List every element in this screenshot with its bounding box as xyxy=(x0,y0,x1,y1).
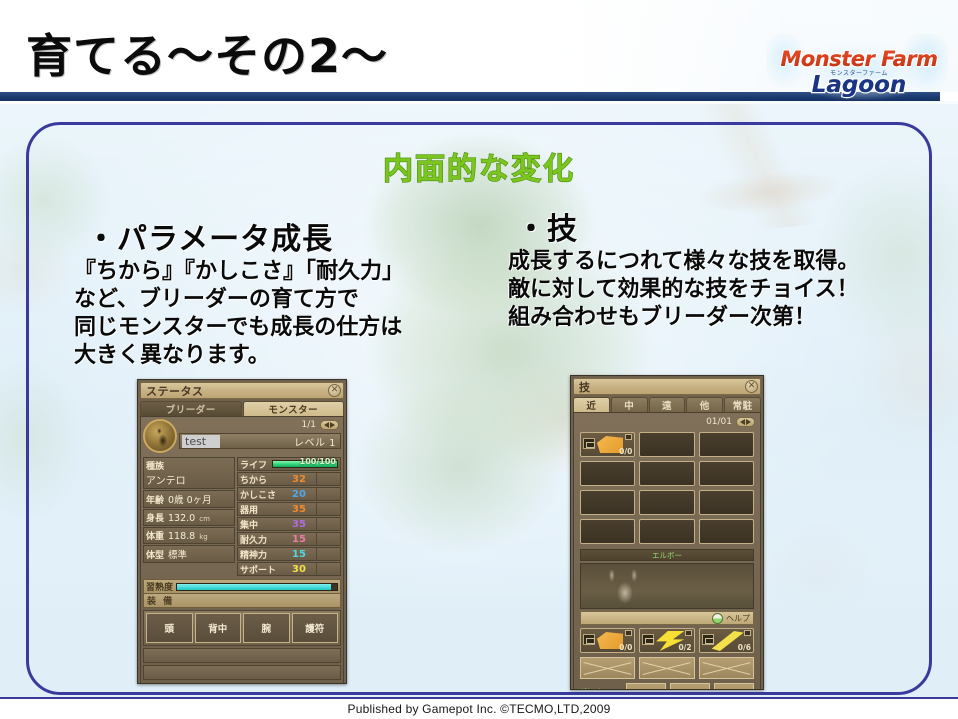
tab-mid-range[interactable]: 中 xyxy=(611,397,648,412)
tab-passive[interactable]: 常駐 xyxy=(724,397,761,412)
help-label: ヘルプ xyxy=(314,684,338,685)
stat-label: 集中 xyxy=(238,518,282,531)
stat-row-endurance: 耐久力 15 xyxy=(237,532,341,546)
status-stats-column: ライフ 100/100 ちから 32 かしこさ 20 xyxy=(237,457,341,577)
stat-spacer xyxy=(316,518,340,530)
stat-row-intelligence: かしこさ 20 xyxy=(237,487,341,501)
skill-cost: 0/0 xyxy=(619,643,632,652)
skill-slot[interactable] xyxy=(580,519,635,544)
antelope-icon xyxy=(153,427,171,449)
skill-window-tabs: 近 中 遠 他 常駐 xyxy=(573,397,761,412)
monster-name-field[interactable]: test xyxy=(182,435,220,448)
stat-label: 精神力 xyxy=(238,548,282,561)
close-icon[interactable]: ✕ xyxy=(328,384,341,397)
skill-slot[interactable] xyxy=(699,432,754,457)
status-header-row: 1/1 test レベル 1 xyxy=(143,419,341,455)
stat-row-dexterity: 器用 35 xyxy=(237,502,341,516)
standby-label: 常駐 xyxy=(580,686,622,690)
monster-level: レベル 1 xyxy=(294,434,340,449)
status-window-title: ステータス xyxy=(141,383,204,399)
bullet-heading-skills: ・技 xyxy=(508,204,859,248)
stat-row-focus: 集中 35 xyxy=(237,517,341,531)
info-field-weight: 体重 118.8 kg xyxy=(143,527,235,544)
section-heading: 内面的な変化 xyxy=(0,144,958,188)
skill-corner-icon xyxy=(625,434,632,440)
info-value: 118.8 xyxy=(168,531,195,542)
empty-skill-slot[interactable] xyxy=(699,657,754,679)
proficiency-row: 習熟度 xyxy=(143,579,341,594)
stat-spacer xyxy=(316,563,340,575)
body-line: 『ちから』『かしこさ』「耐久力」 xyxy=(74,258,404,286)
skill-corner-icon xyxy=(625,630,632,636)
skill-slot[interactable] xyxy=(639,490,694,515)
status-help-row[interactable]: ヘルプ xyxy=(143,682,341,684)
info-field-body-type: 体型 標準 xyxy=(143,545,235,563)
monster-preview-icon xyxy=(603,570,643,608)
empty-skill-slot[interactable] xyxy=(580,657,635,679)
skill-slot[interactable]: 0/0 xyxy=(580,432,635,457)
equipment-section-header: 装 備 xyxy=(143,594,341,608)
skill-slot[interactable] xyxy=(699,490,754,515)
body-line: 同じモンスターでも成長の仕方は xyxy=(74,314,404,342)
text-block-parameters: ・パラメータ成長 『ちから』『かしこさ』「耐久力」 など、ブリーダーの育て方で … xyxy=(74,214,404,371)
skill-slot[interactable] xyxy=(580,490,635,515)
chevron-right-icon[interactable] xyxy=(746,419,751,425)
body-line: など、ブリーダーの育て方で xyxy=(74,286,404,314)
skill-window-body: 01/01 0/0 xyxy=(573,412,761,690)
info-unit: kg xyxy=(199,533,208,541)
help-icon[interactable] xyxy=(300,684,311,685)
info-value: アンテロ xyxy=(146,472,232,487)
proficiency-label: 習熟度 xyxy=(146,580,173,593)
info-label: 身長 xyxy=(146,511,164,524)
monster-portrait-avatar xyxy=(143,419,177,453)
info-field-species: 種族 アンテロ xyxy=(143,457,235,489)
skill-slot[interactable] xyxy=(699,461,754,486)
stat-value: 35 xyxy=(282,519,316,530)
stat-row-life: ライフ 100/100 xyxy=(237,457,341,471)
status-window-body: 1/1 test レベル 1 種族 xyxy=(140,416,344,684)
stat-spacer xyxy=(316,503,340,515)
skill-pager: 01/01 xyxy=(576,415,758,428)
page-title: 育てる〜その2〜 xyxy=(26,20,388,86)
skill-rank-icon xyxy=(702,634,714,645)
copyright-text: Published by Gamepot Inc. ©TECMO,LTD,200… xyxy=(348,702,611,716)
skill-rank-icon xyxy=(642,634,654,645)
chevron-left-icon[interactable] xyxy=(324,422,329,428)
tab-close-range[interactable]: 近 xyxy=(573,397,610,412)
tab-breeder[interactable]: ブリーダー xyxy=(140,401,242,416)
help-label: ヘルプ xyxy=(726,613,750,624)
stat-value: 30 xyxy=(282,564,316,575)
logo-lagoon-text: Lagoon xyxy=(774,72,944,98)
info-label: 体重 xyxy=(146,529,164,542)
stat-row-spirit: 精神力 15 xyxy=(237,547,341,561)
skill-rank-icon xyxy=(583,634,595,645)
equipped-skill-slot[interactable]: 0/6 xyxy=(699,628,754,653)
proficiency-bar-fill xyxy=(177,584,331,590)
skill-cost: 0/0 xyxy=(619,447,632,456)
stat-spacer xyxy=(316,533,340,545)
status-columns: 種族 アンテロ 年齢 0歳 0ヶ月 身長 132.0 cm 体重 118.8 xyxy=(143,457,341,577)
skill-slot[interactable] xyxy=(639,461,694,486)
skill-slot[interactable] xyxy=(639,519,694,544)
stat-value: 32 xyxy=(282,474,316,485)
body-line: 組み合わせもブリーダー次第！ xyxy=(508,304,859,332)
skill-corner-icon xyxy=(685,630,692,636)
tab-monster[interactable]: モンスター xyxy=(243,401,345,416)
info-label: 種族 xyxy=(146,459,232,472)
info-value: 0歳 0ヶ月 xyxy=(168,492,212,506)
body-line: 大きく異なります。 xyxy=(74,342,404,370)
skill-description: エルボー xyxy=(580,549,754,561)
skill-window-title: 技 xyxy=(574,379,591,395)
proficiency-bar xyxy=(176,583,338,591)
equipped-skill-slot[interactable]: 0/0 xyxy=(580,628,635,653)
chevron-right-icon[interactable] xyxy=(330,422,335,428)
status-window: ステータス ✕ ブリーダー モンスター 1/1 xyxy=(137,379,347,684)
equip-slot-arm[interactable]: 腕 xyxy=(243,613,290,643)
status-info-column: 種族 アンテロ 年齢 0歳 0ヶ月 身長 132.0 cm 体重 118.8 xyxy=(143,457,235,577)
skill-corner-icon xyxy=(744,630,751,636)
empty-strip-upper xyxy=(143,648,341,663)
stat-spacer xyxy=(316,548,340,560)
info-unit: cm xyxy=(199,515,210,523)
tab-long-range[interactable]: 遠 xyxy=(649,397,686,412)
page-indicator: 01/01 xyxy=(706,417,732,427)
chevron-left-icon[interactable] xyxy=(740,419,745,425)
skill-cost: 0/2 xyxy=(678,643,691,652)
stat-value: 20 xyxy=(282,489,316,500)
equip-slot-charm[interactable]: 護符 xyxy=(292,613,339,643)
page-footer: Published by Gamepot Inc. ©TECMO,LTD,200… xyxy=(0,697,958,719)
empty-skill-slot[interactable] xyxy=(639,657,694,679)
skill-window-titlebar: 技 ✕ xyxy=(573,378,761,395)
stat-spacer xyxy=(316,488,340,500)
info-field-height: 身長 132.0 cm xyxy=(143,509,235,526)
empty-strip-lower xyxy=(143,665,341,680)
help-icon[interactable] xyxy=(712,613,723,624)
page-indicator: 1/1 xyxy=(302,420,316,430)
game-logo: Monster Farm Monster Farm モンスターファーム Lago… xyxy=(766,34,948,100)
stat-label: サポート xyxy=(238,563,282,576)
stat-label: ちから xyxy=(238,473,282,486)
life-value: 100/100 xyxy=(300,457,336,466)
skill-slot[interactable] xyxy=(580,461,635,486)
standby-slot[interactable] xyxy=(670,683,710,690)
stat-spacer xyxy=(316,473,340,485)
stat-value: 15 xyxy=(282,549,316,560)
standby-slot[interactable] xyxy=(626,683,666,690)
stat-row-support: サポート 30 xyxy=(237,562,341,576)
status-header-right: 1/1 test レベル 1 xyxy=(179,419,341,449)
stat-value: 15 xyxy=(282,534,316,545)
bullet-heading-parameters: ・パラメータ成長 xyxy=(74,214,404,258)
standby-slot[interactable] xyxy=(714,683,754,690)
stat-label: 器用 xyxy=(238,503,282,516)
tab-other[interactable]: 他 xyxy=(686,397,723,412)
stat-label: 耐久力 xyxy=(238,533,282,546)
text-block-skills: ・技 成長するにつれて様々な技を取得。 敵に対して効果的な技をチョイス！ 組み合… xyxy=(508,204,859,332)
stat-label: ライフ xyxy=(238,458,272,471)
skill-cost: 0/6 xyxy=(738,643,751,652)
body-line: 敵に対して効果的な技をチョイス！ xyxy=(508,276,859,304)
stat-row-power: ちから 32 xyxy=(237,472,341,486)
status-pager: 1/1 xyxy=(179,419,341,431)
skill-slot-grid: 0/0 xyxy=(576,430,758,546)
skill-window: 技 ✕ 近 中 遠 他 常駐 01/01 xyxy=(570,375,764,690)
skill-slot[interactable] xyxy=(639,432,694,457)
close-icon[interactable]: ✕ xyxy=(745,380,758,393)
info-value: 132.0 xyxy=(168,513,195,524)
monster-name-row: test レベル 1 xyxy=(179,433,341,449)
info-field-age: 年齢 0歳 0ヶ月 xyxy=(143,490,235,508)
equipment-grid: 頭 背中 腕 護符 xyxy=(143,610,341,646)
status-window-titlebar: ステータス ✕ xyxy=(140,382,344,399)
body-line: 成長するにつれて様々な技を取得。 xyxy=(508,248,859,276)
standby-skill-row: 常駐 xyxy=(576,679,758,690)
skill-preview-pane xyxy=(580,563,754,609)
equipped-skill-grid: 0/0 0/2 0/6 xyxy=(576,625,758,679)
equip-slot-back[interactable]: 背中 xyxy=(195,613,242,643)
equipped-skill-slot[interactable]: 0/2 xyxy=(639,628,694,653)
stat-value: 35 xyxy=(282,504,316,515)
stat-label: かしこさ xyxy=(238,488,282,501)
info-value: 標準 xyxy=(168,547,187,561)
skill-help-row[interactable]: ヘルプ xyxy=(580,611,754,625)
status-window-tabs: ブリーダー モンスター xyxy=(140,401,344,416)
info-label: 年齢 xyxy=(146,493,164,506)
slide-root: 育てる〜その2〜 Monster Farm Monster Farm モンスター… xyxy=(0,0,958,719)
equip-slot-head[interactable]: 頭 xyxy=(146,613,193,643)
skill-rank-icon xyxy=(583,438,595,449)
pager-arrows[interactable] xyxy=(736,417,755,427)
info-label: 体型 xyxy=(146,548,164,561)
skill-slot[interactable] xyxy=(699,519,754,544)
pager-arrows[interactable] xyxy=(320,420,339,430)
